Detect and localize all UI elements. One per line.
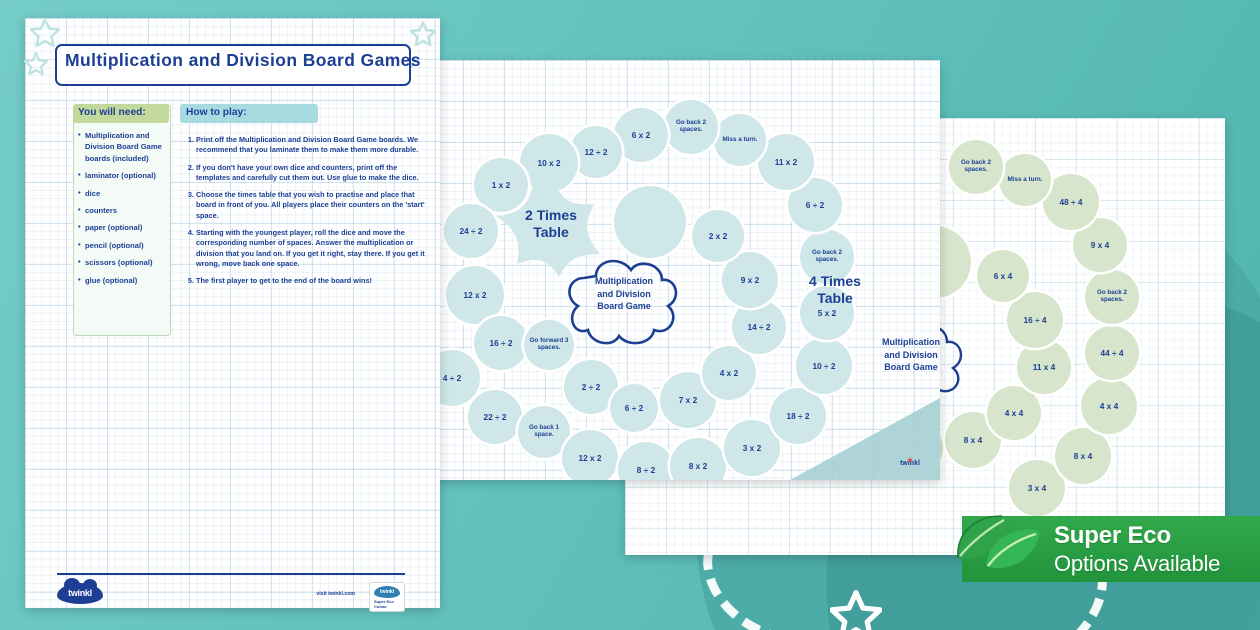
you-will-need-item: scissors (optional) — [78, 257, 166, 268]
board-space: 3 x 2 — [724, 420, 780, 476]
board-space-label: 5 x 2 — [814, 309, 840, 318]
board-space-label: 22 ÷ 2 — [479, 413, 510, 422]
instructions-sheet[interactable]: Multiplication and Division Board Games … — [25, 18, 440, 608]
board-space: 8 x 2 — [670, 438, 726, 480]
times-table-star-text: 4 Times Table — [809, 273, 861, 308]
board-space-label: 11 x 2 — [771, 158, 802, 167]
board-space-label: Go back 1 space. — [518, 425, 570, 438]
board-space-label: 8 x 2 — [685, 462, 711, 471]
you-will-need-item: Multiplication and Division Board Game b… — [78, 130, 166, 164]
board-space-label: Go back 2 spaces. — [664, 120, 718, 133]
you-will-need-item: laminator (optional) — [78, 170, 166, 181]
twinkl-logo: twinkl — [892, 456, 928, 472]
you-will-need-item: counters — [78, 205, 166, 216]
board-space: 4 x 2 — [702, 346, 756, 400]
super-eco-badge[interactable]: Super Eco Options Available — [962, 516, 1260, 582]
sheet-footer: twinkl visit twinkl.com twinkl Super Eco… — [57, 583, 407, 609]
board-space: 16 ÷ 2 — [474, 316, 528, 370]
board-space-label: 4 x 4 — [1001, 409, 1027, 418]
board-space-label: 2 x 2 — [705, 232, 731, 241]
board-space: 44 ÷ 4 — [1085, 326, 1139, 380]
board-space: Go back 2 spaces. — [949, 140, 1003, 194]
board-space: Miss a turn. — [999, 154, 1051, 206]
outline-star-icon — [24, 52, 48, 75]
board-space-label: 11 x 4 — [1029, 363, 1060, 372]
board-space-label: 12 x 2 — [459, 291, 490, 300]
super-eco-title: Super Eco — [1054, 522, 1171, 550]
board-space: 8 x 4 — [1055, 428, 1111, 484]
how-to-play-list: Print off the Multiplication and Divisio… — [182, 135, 428, 294]
how-to-play-step: Starting with the youngest player, roll … — [196, 228, 428, 269]
times-table-star-text: 2 Times Table — [525, 207, 577, 242]
board-space-label: 8 x 4 — [1070, 452, 1096, 461]
board-space-label: 44 ÷ 4 — [1096, 349, 1127, 358]
board-space-label: Go back 2 spaces. — [800, 250, 854, 263]
board-space: 11 x 4 — [1017, 340, 1071, 394]
board-center-cloud-text: Multiplication and Division Board Game — [595, 275, 653, 313]
board-space-label: Go back 2 spaces. — [949, 160, 1003, 173]
board-space-label: Go back 2 spaces. — [1085, 290, 1139, 303]
board-space-label: 4 x 4 — [1096, 402, 1122, 411]
board-space-label: 3 x 4 — [1024, 484, 1050, 493]
board-space-label: 8 x 4 — [960, 436, 986, 445]
how-to-play-heading: How to play: — [180, 104, 318, 123]
you-will-need-heading: You will need: — [73, 104, 169, 123]
board-space-label: 4 x 2 — [716, 369, 742, 378]
board-space-label: 12 ÷ 2 — [580, 148, 611, 157]
board-space: 10 ÷ 2 — [796, 338, 852, 394]
page-title: Multiplication and Division Board Games — [65, 50, 405, 71]
you-will-need-item: paper (optional) — [78, 222, 166, 233]
board-space: 4 x 4 — [1081, 378, 1137, 434]
how-to-play-step: Print off the Multiplication and Divisio… — [196, 135, 428, 156]
board-space: Go back 2 spaces. — [664, 100, 718, 154]
board-space: 4 x 4 — [987, 386, 1041, 440]
super-eco-colour-badge: twinkl Super Eco Colour — [369, 582, 405, 612]
board-space: Go back 2 spaces. — [1085, 270, 1139, 324]
board-center-cloud-text: Multiplication and Division Board Game — [882, 336, 940, 374]
board-space: 12 x 2 — [562, 430, 618, 480]
board-space-label: 6 ÷ 2 — [621, 404, 647, 413]
twinkl-logo[interactable]: twinkl — [57, 583, 103, 604]
board-space-label: 4 ÷ 2 — [439, 374, 465, 383]
board-center-cloud: Multiplication and Division Board Game — [558, 238, 690, 350]
leaf-icon — [952, 508, 1048, 584]
board-space-label: 8 ÷ 2 — [633, 466, 659, 475]
board-space: 6 ÷ 2 — [610, 384, 658, 432]
board-space-label: 48 ÷ 4 — [1055, 198, 1086, 207]
you-will-need-item: pencil (optional) — [78, 240, 166, 251]
board-space-label: Miss a turn. — [719, 137, 762, 144]
how-to-play-step: If you don't have your own dice and coun… — [196, 163, 428, 184]
badge-logo-text: twinkl — [374, 586, 400, 598]
outline-star-icon — [30, 18, 60, 47]
board-space: 11 x 2 — [758, 134, 814, 190]
board-space: 16 ÷ 4 — [1007, 292, 1063, 348]
board-space: 22 ÷ 2 — [468, 390, 522, 444]
how-to-play-step: Choose the times table that you wish to … — [196, 190, 428, 221]
board-space: 14 ÷ 2 — [732, 300, 786, 354]
board-space-label: 9 x 4 — [1087, 241, 1113, 250]
board-space-label: 10 x 2 — [533, 159, 564, 168]
board-space-label: 6 ÷ 2 — [802, 201, 828, 210]
board-space-label: Miss a turn. — [1004, 177, 1047, 184]
board-space: 9 x 2 — [722, 252, 778, 308]
board-space-label: 6 x 4 — [990, 272, 1016, 281]
board-space-label: 7 x 2 — [675, 396, 701, 405]
board-space: Miss a turn. — [714, 114, 766, 166]
board-space-label: 9 x 2 — [737, 276, 763, 285]
board-space-label: 14 ÷ 2 — [743, 323, 774, 332]
board-space-label: 3 x 2 — [739, 444, 765, 453]
outline-star-icon — [410, 21, 436, 46]
screenshot-stage: 3 x 48 x 44 x 444 ÷ 4Go back 2 spaces.9 … — [0, 0, 1260, 630]
you-will-need-item: dice — [78, 188, 166, 199]
board-space: 8 ÷ 2 — [618, 442, 674, 480]
super-eco-subtitle: Options Available — [1054, 551, 1220, 577]
badge-line-2: Colour — [374, 604, 387, 609]
how-to-play-step: The first player to get to the end of th… — [196, 276, 428, 286]
board-space: 6 x 2 — [614, 108, 668, 162]
board-space: 48 ÷ 4 — [1043, 174, 1099, 230]
board-space: 2 x 2 — [692, 210, 744, 262]
footer-divider — [57, 573, 405, 575]
twinkl-logo-text: twinkl — [57, 583, 103, 604]
board-space-label: 16 ÷ 4 — [1019, 316, 1050, 325]
visit-url-text[interactable]: visit twinkl.com — [316, 591, 355, 597]
board-space-label: 24 ÷ 2 — [455, 227, 486, 236]
board-space-label: 10 ÷ 2 — [808, 362, 839, 371]
board-space-label: 16 ÷ 2 — [485, 339, 516, 348]
you-will-need-item: glue (optional) — [78, 275, 166, 286]
board-space-label: 2 ÷ 2 — [578, 383, 604, 392]
board-space: 6 x 4 — [977, 250, 1029, 302]
board-space-label: 12 x 2 — [574, 454, 605, 463]
board-space-label: 6 x 2 — [628, 131, 654, 140]
you-will-need-list: Multiplication and Division Board Game b… — [78, 130, 166, 292]
